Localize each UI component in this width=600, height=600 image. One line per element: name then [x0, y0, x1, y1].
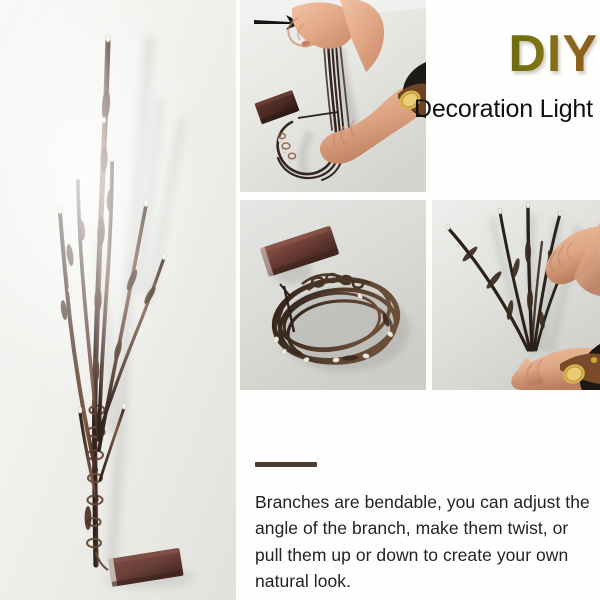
page-subtitle: Decoration Light	[414, 95, 593, 124]
section-divider	[255, 462, 317, 467]
hero-photo-vignette	[0, 0, 236, 600]
description-text: Branches are bendable, you can adjust th…	[255, 489, 591, 594]
step-photo-spreading-branches	[432, 200, 600, 390]
marketing-image-canvas: DIY Decoration Light Branches are bendab…	[0, 0, 600, 600]
spreading-branches-artwork	[432, 200, 600, 390]
page-title: DIY	[508, 28, 598, 80]
step-photo-hands-holding-bundle	[240, 0, 426, 192]
coiled-branches-artwork	[240, 200, 426, 390]
hands-bundle-artwork	[240, 0, 426, 192]
headline-block: DIY Decoration Light	[432, 20, 600, 140]
hero-branch-lamp-photo	[0, 0, 236, 600]
step-photo-coiled-branches	[240, 200, 426, 390]
description-block: Branches are bendable, you can adjust th…	[255, 462, 591, 594]
